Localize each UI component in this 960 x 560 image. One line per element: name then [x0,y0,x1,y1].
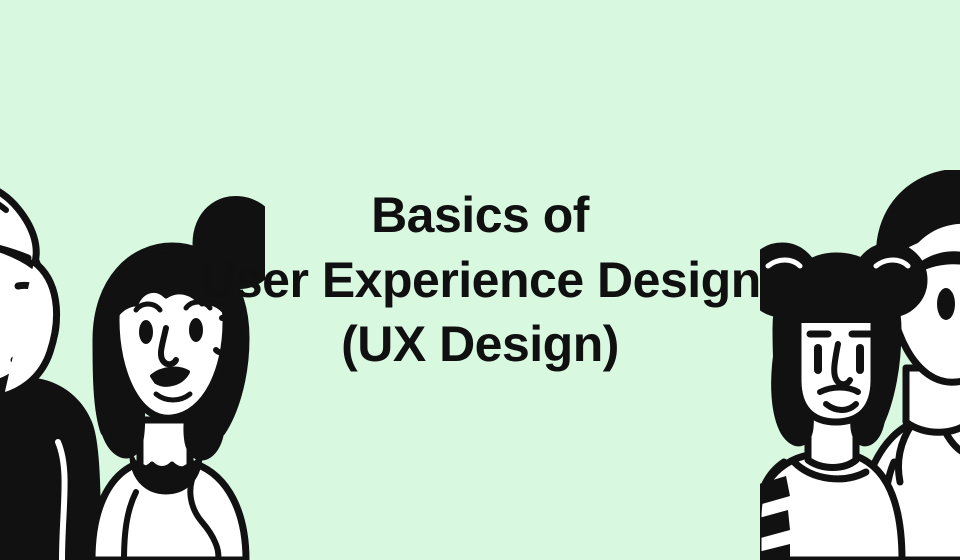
title-line-1: Basics of [371,183,589,248]
left-character-group [0,170,265,560]
person-with-braid [0,181,101,560]
girl-with-space-buns [760,246,924,560]
slide-canvas: Basics of User Experience Design (UX Des… [0,0,960,560]
woman-with-top-bun [92,199,265,560]
title-line-2: User Experience Design [199,248,761,313]
right-character-group [760,170,960,560]
title-line-3: (UX Design) [341,312,619,377]
